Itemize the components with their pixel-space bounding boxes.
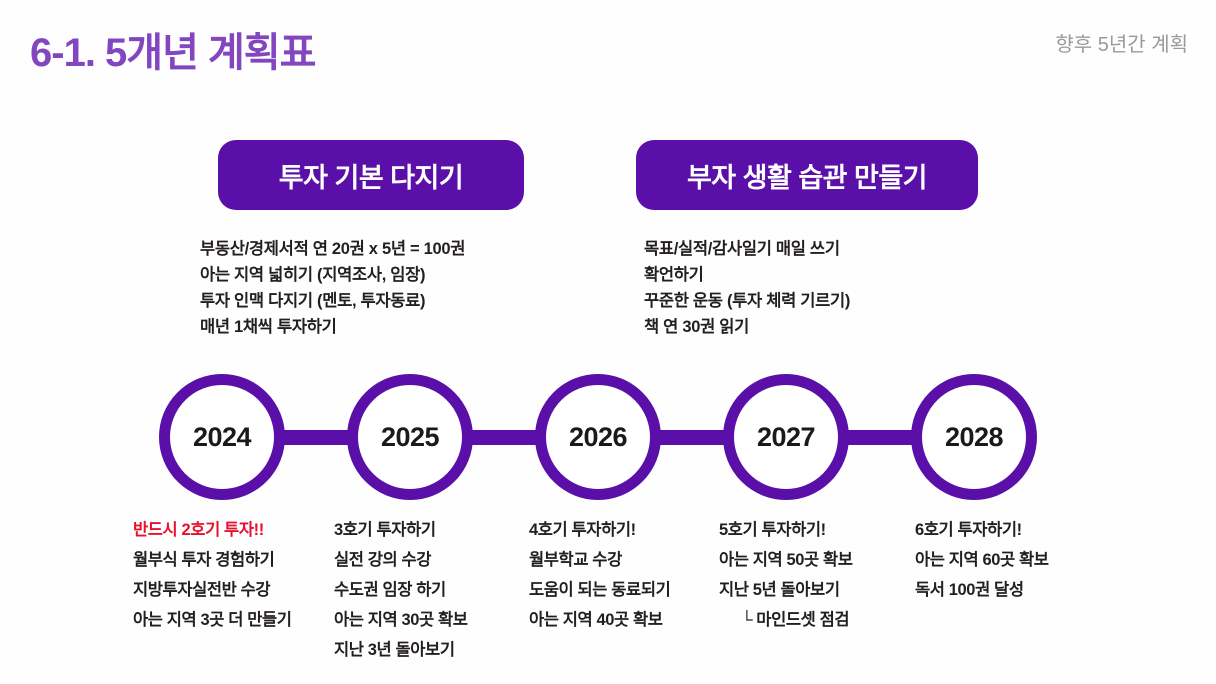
year-detail-item: 5호기 투자하기! bbox=[719, 515, 853, 545]
timeline-node-label: 2027 bbox=[757, 422, 815, 453]
bullet-list-investment-basics: 부동산/경제서적 연 20권 x 5년 = 100권아는 지역 넓히기 (지역조… bbox=[200, 236, 465, 340]
year-detail-item: 아는 지역 50곳 확보 bbox=[719, 545, 853, 575]
year-detail-item: 4호기 투자하기! bbox=[529, 515, 670, 545]
year-detail-column-2025: 3호기 투자하기실전 강의 수강수도권 임장 하기아는 지역 30곳 확보지난 … bbox=[334, 515, 468, 665]
corner-branch-icon: └ bbox=[741, 611, 756, 629]
page-title: 6-1. 5개년 계획표 bbox=[30, 20, 315, 78]
bullet-list-rich-habits: 목표/실적/감사일기 매일 쓰기확언하기꾸준한 운동 (투자 체력 기르기)책 … bbox=[644, 236, 850, 340]
year-detail-item: 아는 지역 3곳 더 만들기 bbox=[133, 605, 292, 635]
year-detail-column-2026: 4호기 투자하기!월부학교 수강도움이 되는 동료되기아는 지역 40곳 확보 bbox=[529, 515, 670, 635]
timeline-node-2026[interactable]: 2026 bbox=[535, 374, 661, 500]
bullet-item: 매년 1채씩 투자하기 bbox=[200, 314, 465, 340]
timeline-connector bbox=[843, 430, 917, 445]
timeline-connector bbox=[655, 430, 729, 445]
bullet-item: 확언하기 bbox=[644, 262, 850, 288]
year-detail-column-2028: 6호기 투자하기!아는 지역 60곳 확보독서 100권 달성 bbox=[915, 515, 1049, 605]
timeline-node-label: 2025 bbox=[381, 422, 439, 453]
timeline-connector bbox=[467, 430, 541, 445]
section-header-investment-basics: 투자 기본 다지기 bbox=[218, 140, 524, 210]
year-detail-item: 아는 지역 60곳 확보 bbox=[915, 545, 1049, 575]
year-detail-item: 아는 지역 40곳 확보 bbox=[529, 605, 670, 635]
slide-canvas: 6-1. 5개년 계획표 향후 5년간 계획 투자 기본 다지기 부자 생활 습… bbox=[0, 0, 1216, 684]
timeline-node-label: 2028 bbox=[945, 422, 1003, 453]
bullet-item: 꾸준한 운동 (투자 체력 기르기) bbox=[644, 288, 850, 314]
timeline-node-2025[interactable]: 2025 bbox=[347, 374, 473, 500]
bullet-item: 투자 인맥 다지기 (멘토, 투자동료) bbox=[200, 288, 465, 314]
bullet-item: 아는 지역 넓히기 (지역조사, 임장) bbox=[200, 262, 465, 288]
section-header-rich-habits: 부자 생활 습관 만들기 bbox=[636, 140, 978, 210]
year-detail-column-2024: 반드시 2호기 투자!!월부식 투자 경험하기지방투자실전반 수강아는 지역 3… bbox=[133, 515, 292, 635]
year-detail-column-2027: 5호기 투자하기!아는 지역 50곳 확보지난 5년 돌아보기└마인드셋 점검 bbox=[719, 515, 853, 635]
year-detail-item: 3호기 투자하기 bbox=[334, 515, 468, 545]
year-detail-item: 지방투자실전반 수강 bbox=[133, 575, 292, 605]
year-detail-item: 월부학교 수강 bbox=[529, 545, 670, 575]
bullet-item: 책 연 30권 읽기 bbox=[644, 314, 850, 340]
timeline-connector bbox=[279, 430, 353, 445]
year-detail-highlight: 반드시 2호기 투자!! bbox=[133, 515, 292, 545]
timeline-node-label: 2026 bbox=[569, 422, 627, 453]
year-detail-item: 독서 100권 달성 bbox=[915, 575, 1049, 605]
year-detail-item: 지난 3년 돌아보기 bbox=[334, 635, 468, 665]
year-detail-item: 6호기 투자하기! bbox=[915, 515, 1049, 545]
year-detail-item: 도움이 되는 동료되기 bbox=[529, 575, 670, 605]
year-detail-item: 실전 강의 수강 bbox=[334, 545, 468, 575]
year-detail-item: 월부식 투자 경험하기 bbox=[133, 545, 292, 575]
timeline-node-2027[interactable]: 2027 bbox=[723, 374, 849, 500]
year-detail-sub-label: 마인드셋 점검 bbox=[756, 611, 849, 629]
timeline-node-label: 2024 bbox=[193, 422, 251, 453]
year-detail-item: 아는 지역 30곳 확보 bbox=[334, 605, 468, 635]
year-detail-item: 지난 5년 돌아보기 bbox=[719, 575, 853, 605]
year-detail-item: └마인드셋 점검 bbox=[719, 605, 853, 635]
bullet-item: 목표/실적/감사일기 매일 쓰기 bbox=[644, 236, 850, 262]
timeline: 20242025202620272028 bbox=[0, 374, 1216, 502]
bullet-item: 부동산/경제서적 연 20권 x 5년 = 100권 bbox=[200, 236, 465, 262]
slide-subtitle: 향후 5년간 계획 bbox=[1055, 28, 1188, 57]
timeline-node-2024[interactable]: 2024 bbox=[159, 374, 285, 500]
timeline-node-2028[interactable]: 2028 bbox=[911, 374, 1037, 500]
year-detail-item: 수도권 임장 하기 bbox=[334, 575, 468, 605]
